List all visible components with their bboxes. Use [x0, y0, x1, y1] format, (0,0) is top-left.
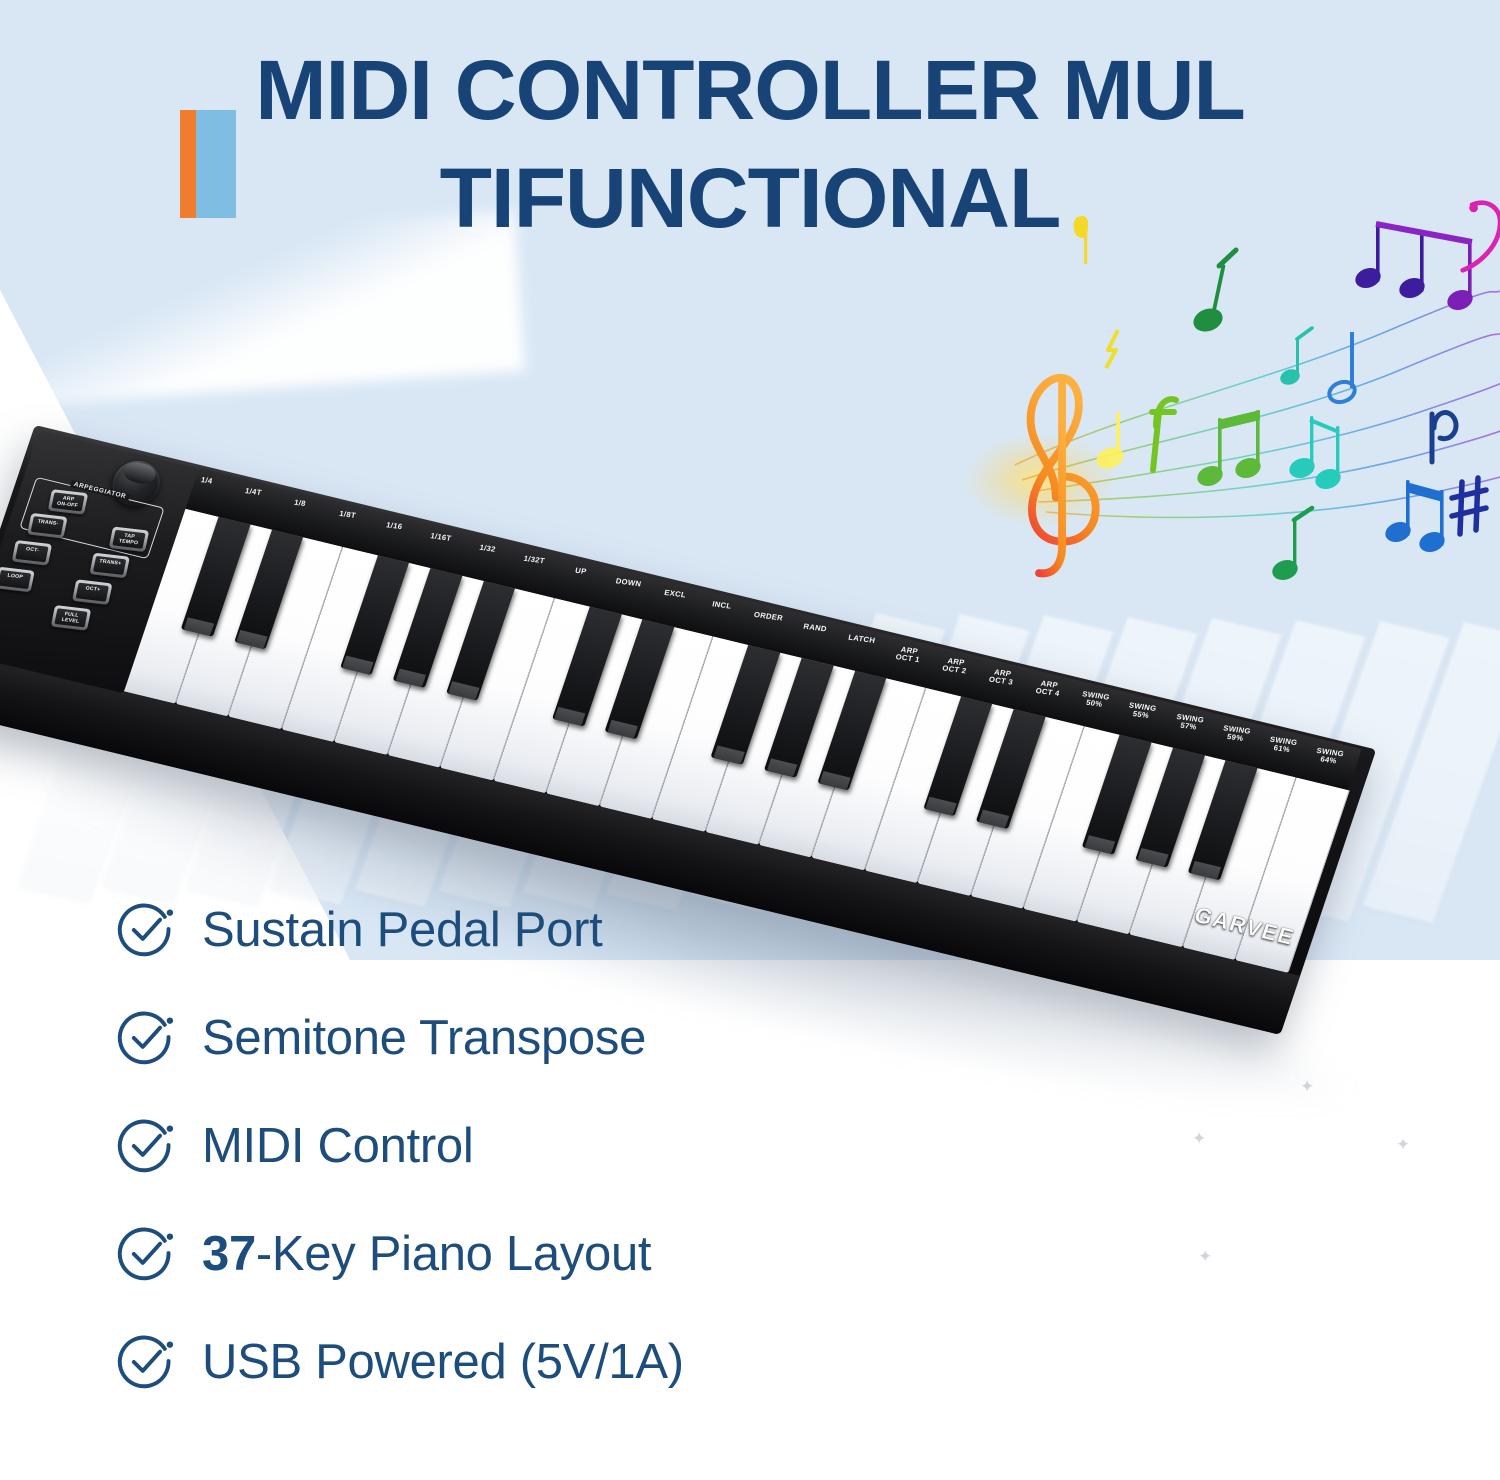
panel-button-loop[interactable]: LOOP — [0, 567, 35, 593]
product-marketing-image: MIDI CONTROLLER MUL TIFUNCTIONAL — [0, 0, 1500, 1480]
knob-cap — [121, 460, 159, 487]
check-circle-icon-wrap — [116, 1332, 176, 1392]
panel-button-label: FULL LEVEL — [54, 608, 87, 627]
panel-button-label: LOOP — [0, 570, 31, 589]
sparkle-icon: ✦ — [1192, 1130, 1206, 1147]
feature-item: 37-Key Piano Layout — [116, 1200, 1016, 1308]
check-circle-icon — [116, 900, 176, 960]
accent-bar-blue — [196, 110, 236, 218]
panel-button-trans-minus[interactable]: TRANS- — [27, 513, 68, 539]
panel-button-arp[interactable]: ARP ON-OFF — [48, 489, 89, 515]
sparkle-icon: ✦ — [1300, 1078, 1314, 1095]
check-circle-icon-wrap — [116, 1224, 176, 1284]
check-circle-icon — [116, 1332, 176, 1392]
panel-button-trans-plus[interactable]: TRANS+ — [89, 553, 130, 579]
panel-button-label: TRANS+ — [93, 556, 126, 575]
check-circle-icon-wrap — [116, 900, 176, 960]
feature-list: Sustain Pedal Port Semitone Transpose MI… — [116, 876, 1016, 1416]
panel-button-label: OCT- — [15, 543, 48, 562]
feature-label: Sustain Pedal Port — [202, 902, 602, 958]
panel-button-oct-minus[interactable]: OCT- — [12, 540, 53, 566]
panel-button-full-level[interactable]: FULL LEVEL — [51, 605, 92, 631]
panel-button-tap[interactable]: TAP TEMPO — [109, 526, 150, 552]
feature-label: MIDI Control — [202, 1118, 473, 1174]
feature-label: Semitone Transpose — [202, 1010, 646, 1066]
feature-item: Semitone Transpose — [116, 984, 1016, 1092]
panel-button-label: TAP TEMPO — [112, 530, 145, 549]
feature-label-emphasis: 37 — [202, 1227, 256, 1281]
panel-button-label: OCT+ — [76, 583, 109, 602]
accent-bar-orange — [180, 110, 196, 218]
check-circle-icon — [116, 1116, 176, 1176]
sparkle-icon: ✦ — [1198, 1248, 1212, 1265]
feature-item: Sustain Pedal Port — [116, 876, 1016, 984]
check-circle-icon-wrap — [116, 1008, 176, 1068]
feature-label: USB Powered (5V/1A) — [202, 1334, 684, 1390]
panel-buttons: ARP ON-OFFTAP TEMPOTRANS-TRANS+OCT-OCT+L… — [40, 430, 199, 469]
feature-item: USB Powered (5V/1A) — [116, 1308, 1016, 1416]
panel-button-oct-plus[interactable]: OCT+ — [72, 579, 113, 605]
check-circle-icon-wrap — [116, 1116, 176, 1176]
sparkle-icon: ✦ — [1396, 1136, 1410, 1153]
feature-item: MIDI Control — [116, 1092, 1016, 1200]
panel-button-label: ARP ON-OFF — [51, 492, 84, 511]
feature-label: 37-Key Piano Layout — [202, 1226, 651, 1282]
panel-button-label: TRANS- — [31, 516, 64, 535]
check-circle-icon — [116, 1008, 176, 1068]
check-circle-icon — [116, 1224, 176, 1284]
